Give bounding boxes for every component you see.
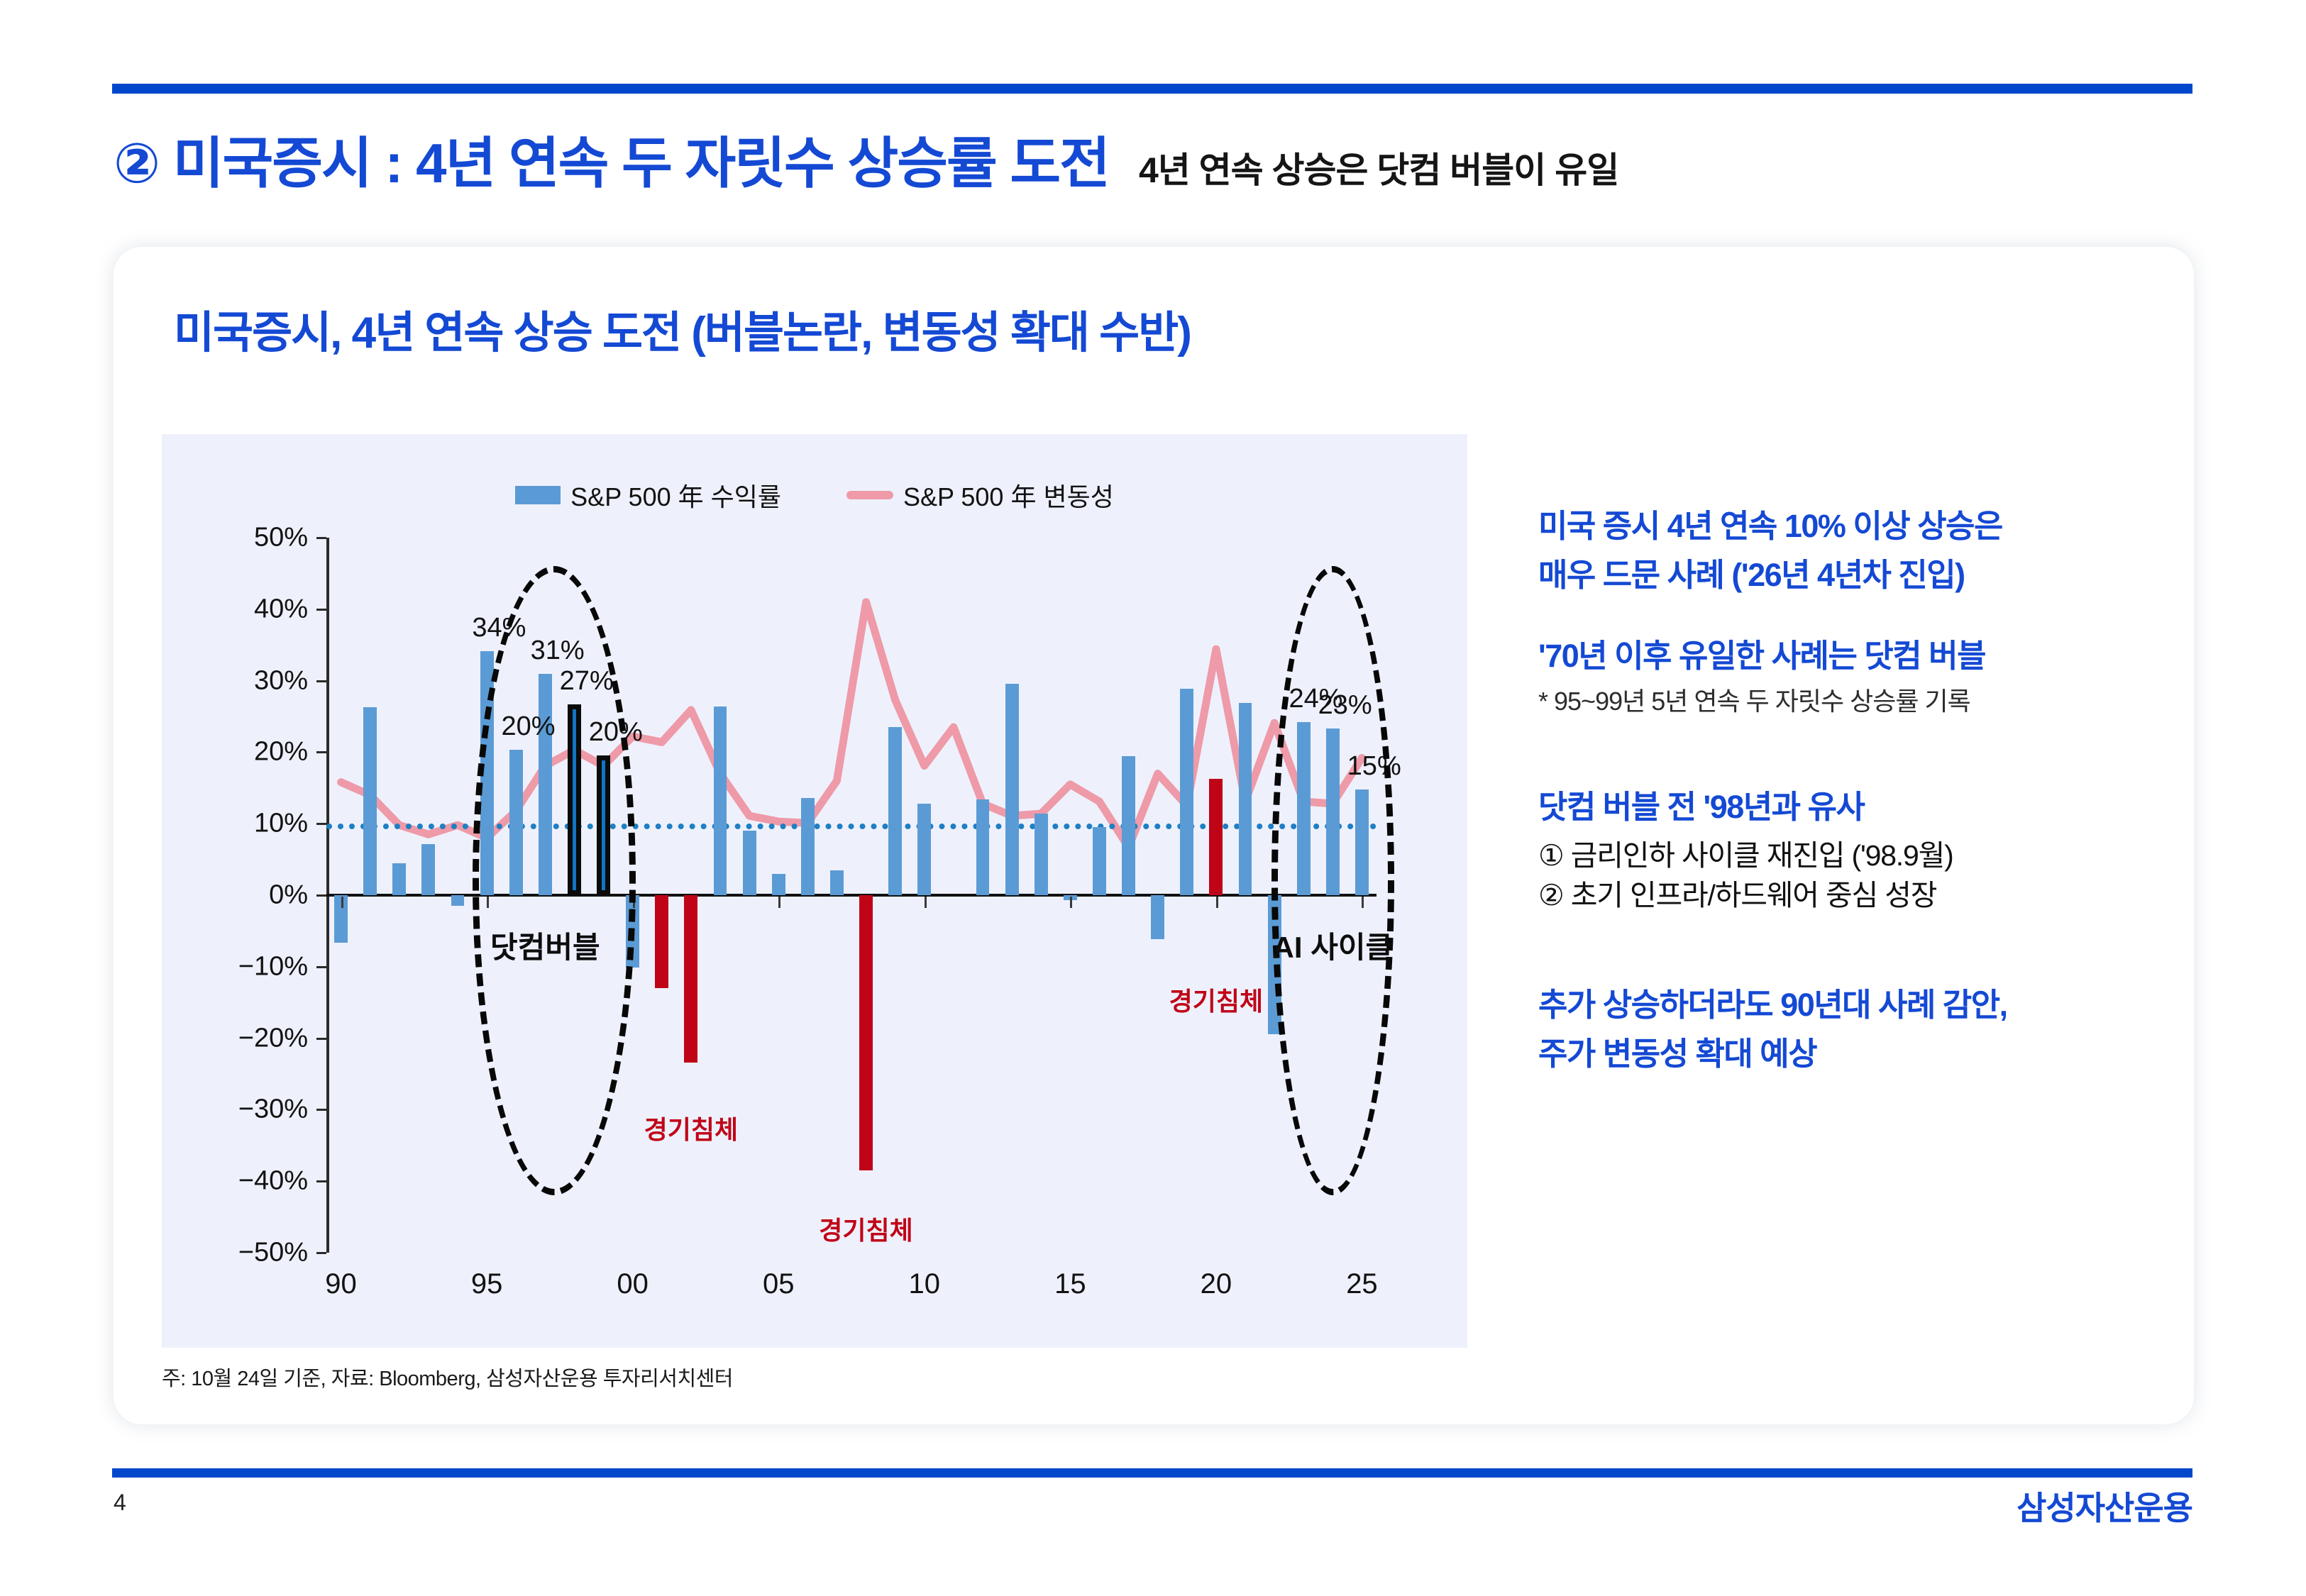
commentary-b3-item1: ① 금리인하 사이클 재진입 ('98.9월)	[1538, 836, 2205, 876]
y-axis-label: 20%	[254, 737, 308, 767]
page-title: ② 미국증시 : 4년 연속 두 자릿수 상승률 도전	[114, 119, 1109, 199]
y-axis-tick	[316, 1038, 326, 1040]
chart-bar	[655, 895, 668, 988]
bar-data-label: 34%	[472, 613, 526, 643]
spacer	[1538, 916, 2205, 984]
legend-label-return: S&P 500 年 수익률	[570, 477, 781, 514]
x-axis-label: 00	[617, 1268, 649, 1300]
legend-line-swatch-icon	[846, 491, 893, 499]
chart-legend: S&P 500 年 수익률 S&P 500 年 변동성	[162, 477, 1467, 514]
chart-bar	[392, 863, 406, 895]
chart-bar	[1326, 728, 1340, 895]
page-subtitle: 4년 연속 상승은 닷컴 버블이 유일	[1139, 142, 1618, 193]
chart-annotation: 경기침체	[1169, 981, 1263, 1018]
chart-source-note: 주: 10월 24일 기준, 자료: Bloomberg, 삼성자산운용 투자리…	[162, 1362, 733, 1392]
y-axis-label: 40%	[254, 594, 308, 624]
x-axis-label: 20	[1201, 1268, 1232, 1300]
chart-annotation: 경기침체	[644, 1109, 738, 1146]
y-axis-tick	[316, 751, 326, 753]
legend-item-return: S&P 500 年 수익률	[515, 477, 781, 514]
legend-item-volatility: S&P 500 年 변동성	[846, 477, 1114, 514]
chart-bar	[888, 727, 902, 895]
bar-data-label: 20%	[501, 711, 555, 742]
chart-annotation: AI 사이클	[1273, 924, 1394, 967]
y-axis-tick	[316, 1180, 326, 1182]
chart-panel: S&P 500 年 수익률 S&P 500 年 변동성 50%40%30%20%…	[162, 434, 1467, 1348]
chart-bar	[859, 895, 873, 1170]
y-axis-tick	[316, 1252, 326, 1254]
chart-bar	[597, 755, 610, 895]
x-axis-tick	[487, 897, 489, 908]
y-axis-tick	[316, 966, 326, 968]
x-axis-tick	[1216, 897, 1218, 908]
y-axis-label: 10%	[254, 809, 308, 839]
chart-annotation: 닷컴버블	[490, 924, 600, 967]
legend-label-volatility: S&P 500 年 변동성	[903, 477, 1114, 514]
y-axis-label: −30%	[238, 1095, 308, 1125]
bar-data-label: 15%	[1347, 751, 1401, 782]
header-rule	[112, 84, 2192, 94]
chart-bar	[1239, 703, 1252, 895]
chart-bar	[1151, 895, 1164, 939]
brand-logo: 삼성자산운용	[2017, 1483, 2192, 1529]
y-axis-label: −40%	[238, 1166, 308, 1197]
chart-bar	[539, 674, 552, 895]
commentary-b4-line2: 주가 변동성 확대 예상	[1538, 1033, 2205, 1075]
x-axis-tick	[633, 897, 635, 908]
commentary-b4-line1: 추가 상승하더라도 90년대 사례 감안,	[1538, 984, 2205, 1026]
commentary-b2-note: * 95~99년 5년 연속 두 자릿수 상승률 기록	[1538, 681, 2205, 718]
x-axis-tick	[925, 897, 927, 908]
x-axis-tick	[1070, 897, 1072, 908]
spacer	[1538, 597, 2205, 635]
spacer	[1538, 718, 2205, 786]
y-axis-tick	[316, 823, 326, 825]
commentary-b2-line1: '70년 이후 유일한 사례는 닷컴 버블	[1538, 635, 2205, 677]
card-title: 미국증시, 4년 연속 상승 도전 (버블논란, 변동성 확대 수반)	[174, 297, 1191, 360]
chart-bar	[480, 651, 494, 895]
chart-annotation: 경기침체	[819, 1210, 912, 1247]
x-axis-label: 25	[1346, 1268, 1378, 1300]
slide-header: ② 미국증시 : 4년 연속 두 자릿수 상승률 도전 4년 연속 상승은 닷컴…	[114, 119, 2207, 204]
slide-root: ② 미국증시 : 4년 연속 두 자릿수 상승률 도전 4년 연속 상승은 닷컴…	[0, 0, 2306, 1596]
chart-bar	[1122, 756, 1135, 895]
chart-bar	[421, 844, 435, 895]
chart-bar	[743, 831, 756, 895]
x-axis-tick	[778, 897, 780, 908]
x-axis-tick	[1362, 897, 1364, 908]
bar-data-label: 27%	[560, 666, 614, 697]
y-axis-tick	[316, 609, 326, 611]
y-axis-tick	[316, 1109, 326, 1111]
x-axis-label: 15	[1054, 1268, 1086, 1300]
bar-data-label: 20%	[589, 717, 643, 748]
x-axis-label: 10	[909, 1268, 941, 1300]
chart-bar	[714, 706, 727, 895]
y-axis-label: 0%	[269, 880, 308, 911]
commentary-block-4: 추가 상승하더라도 90년대 사례 감안, 주가 변동성 확대 예상	[1538, 984, 2205, 1075]
bar-data-label: 31%	[531, 636, 585, 666]
chart-bar	[1093, 827, 1106, 895]
chart-bar	[1355, 789, 1369, 895]
y-axis-tick	[316, 680, 326, 682]
footer-rule	[112, 1468, 2192, 1478]
chart-bar	[451, 895, 465, 906]
chart-bar	[363, 707, 377, 895]
commentary-panel: 미국 증시 4년 연속 10% 이상 상승은 매우 드문 사례 ('26년 4년…	[1538, 505, 2205, 1075]
commentary-block-2: '70년 이후 유일한 사례는 닷컴 버블 * 95~99년 5년 연속 두 자…	[1538, 635, 2205, 718]
commentary-block-3: 닷컴 버블 전 '98년과 유사 ① 금리인하 사이클 재진입 ('98.9월)…	[1538, 786, 2205, 916]
chart-plot-area: 50%40%30%20%10%0%−10%−20%−30%−40%−50%34%…	[326, 538, 1377, 1253]
chart-bar	[801, 798, 815, 895]
chart-bar	[568, 704, 581, 895]
y-axis-label: −20%	[238, 1023, 308, 1053]
commentary-b1-line2: 매우 드문 사례 ('26년 4년차 진입)	[1538, 554, 2205, 596]
y-axis-tick	[316, 894, 326, 897]
chart-bar	[1035, 814, 1048, 895]
y-axis-label: 50%	[254, 523, 308, 553]
y-axis-tick	[316, 537, 326, 539]
commentary-b3-head: 닷컴 버블 전 '98년과 유사	[1538, 786, 2205, 828]
chart-bar	[1180, 689, 1193, 895]
x-axis-label: 95	[471, 1268, 503, 1300]
chart-bar	[772, 874, 785, 895]
chart-bar	[1209, 779, 1223, 895]
y-axis-label: 30%	[254, 665, 308, 696]
page-number: 4	[114, 1490, 126, 1516]
x-axis-tick	[341, 897, 343, 908]
chart-bar	[509, 750, 523, 895]
chart-bar	[1297, 722, 1311, 895]
chart-bar	[830, 870, 844, 895]
chart-bar	[917, 804, 931, 895]
x-axis-label: 90	[325, 1268, 357, 1300]
y-axis-label: −10%	[238, 951, 308, 982]
chart-bar	[684, 895, 697, 1063]
legend-bar-swatch-icon	[515, 486, 561, 504]
commentary-block-1: 미국 증시 4년 연속 10% 이상 상승은 매우 드문 사례 ('26년 4년…	[1538, 505, 2205, 597]
x-axis-label: 05	[763, 1268, 795, 1300]
bar-data-label: 23%	[1318, 690, 1372, 721]
chart-bar	[1005, 684, 1019, 895]
y-axis-label: −50%	[238, 1238, 308, 1268]
chart-bar	[976, 799, 990, 895]
commentary-b1-line1: 미국 증시 4년 연속 10% 이상 상승은	[1538, 505, 2205, 547]
commentary-b3-item2: ② 초기 인프라/하드웨어 중심 성장	[1538, 875, 2205, 916]
